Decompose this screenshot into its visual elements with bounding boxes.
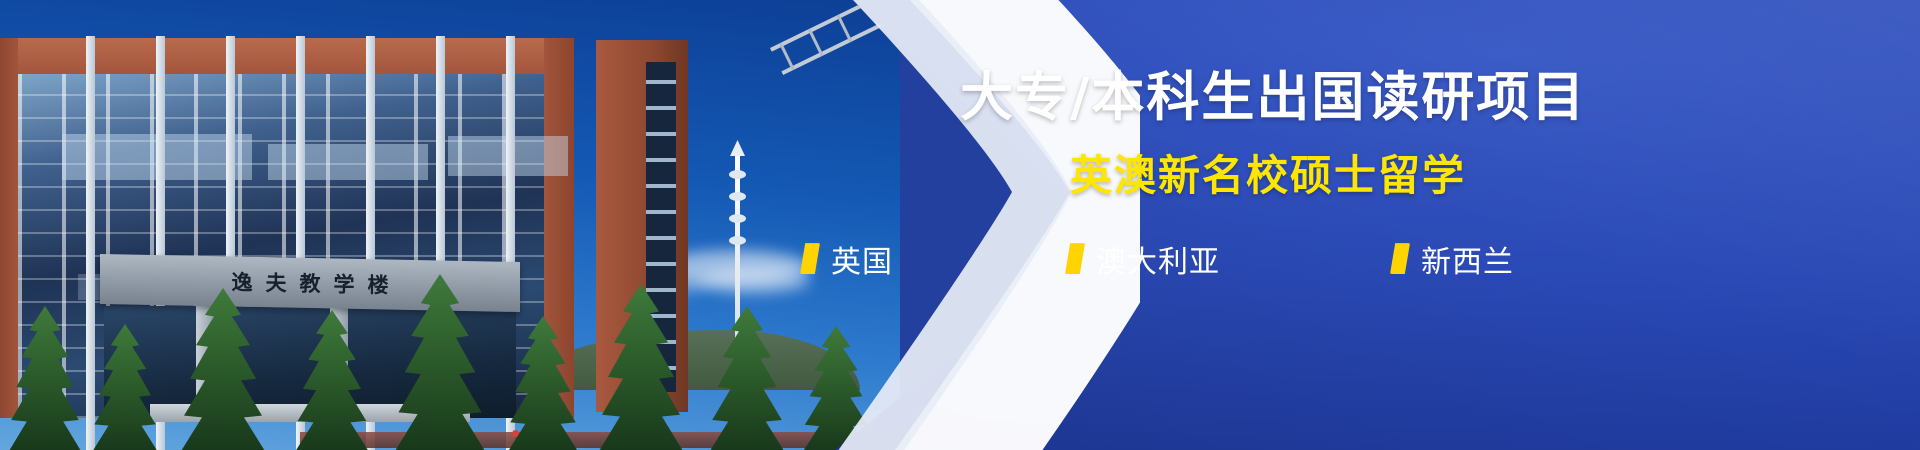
destination-tag-list: 英国 澳大利亚 新西兰 [800,237,1610,281]
destination-tag-australia[interactable]: 澳大利亚 [1065,237,1220,281]
conifer-tree [266,310,398,450]
conifer-tree [148,288,298,450]
yellow-parallelogram-marker-icon [800,243,820,274]
destination-tag-uk[interactable]: 英国 [800,237,893,281]
banner-text-content: 大专/本科生出国读研项目 英澳新名校硕士留学 英国 澳大利亚 新西兰 [960,70,1860,370]
banner-headline: 大专/本科生出国读研项目 [960,70,1860,126]
conifer-tree [360,274,520,450]
yellow-parallelogram-marker-icon [1390,243,1410,274]
destination-tag-label: 新西兰 [1421,237,1514,281]
window-reflection [268,144,428,180]
destination-tag-new-zealand[interactable]: 新西兰 [1390,237,1514,281]
yellow-parallelogram-marker-icon [1065,243,1085,274]
destination-tag-label: 英国 [831,237,893,281]
banner-subheadline: 英澳新名校硕士留学 [1070,142,1860,203]
conifer-tree [0,306,110,450]
conifer-tree [66,324,184,450]
conifer-tree [480,316,606,450]
promo-banner: 逸夫教学楼 大专/本科生出国读研项目 英澳新名校硕士留学 [0,0,1920,450]
destination-tag-label: 澳大利亚 [1096,237,1220,281]
